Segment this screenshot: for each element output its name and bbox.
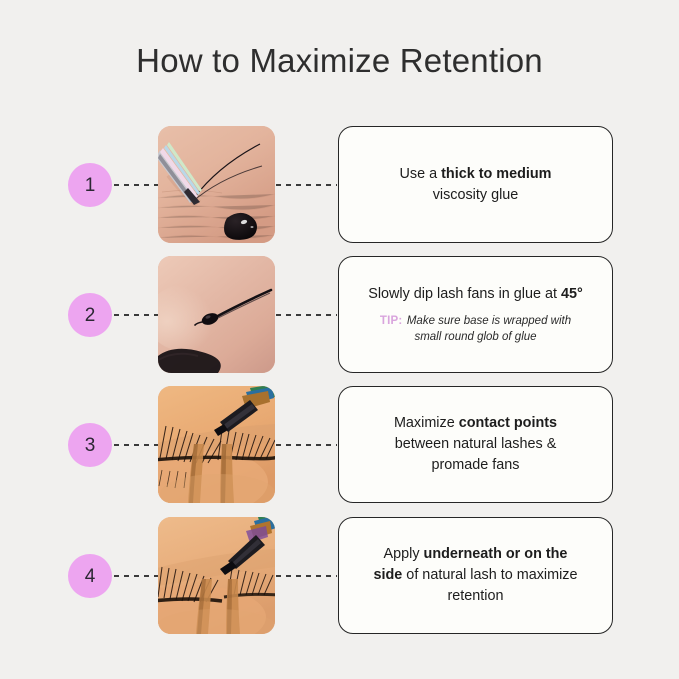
page-title: How to Maximize Retention <box>0 42 679 80</box>
step-photo <box>158 126 275 243</box>
step-photo <box>158 386 275 503</box>
step-text-card: Apply underneath or on the side of natur… <box>338 517 613 634</box>
connector-badge-to-photo <box>114 444 158 446</box>
step-text-card: Use a thick to medium viscosity glue <box>338 126 613 243</box>
connector-photo-to-card <box>276 314 337 316</box>
card-line: Use a thick to medium <box>400 164 552 185</box>
connector-photo-to-card <box>276 575 337 577</box>
infographic-root: How to Maximize Retention 1 <box>0 0 679 679</box>
card-line: between natural lashes & <box>395 434 557 455</box>
step-row: 4 <box>0 517 679 635</box>
step-number-badge: 3 <box>68 423 112 467</box>
card-line: retention <box>447 586 503 607</box>
connector-photo-to-card <box>276 184 337 186</box>
tip-block: TIP: Make sure base is wrapped with smal… <box>380 312 571 345</box>
card-line: promade fans <box>432 455 520 476</box>
tip-text-line: small round glob of glue <box>380 329 571 345</box>
step-number-label: 2 <box>85 306 96 325</box>
card-line: Maximize contact points <box>394 413 557 434</box>
step-number-badge: 4 <box>68 554 112 598</box>
card-line: Apply underneath or on the <box>384 544 568 565</box>
card-line: viscosity glue <box>433 185 519 206</box>
card-line: Slowly dip lash fans in glue at 45° <box>368 284 583 305</box>
step-row: 1 <box>0 126 679 244</box>
connector-badge-to-photo <box>114 314 158 316</box>
step-number-badge: 2 <box>68 293 112 337</box>
tip-text-line: Make sure base is wrapped with <box>407 315 571 327</box>
step-row: 2 <box>0 256 679 374</box>
step-number-label: 3 <box>85 436 96 455</box>
step-text-card: Slowly dip lash fans in glue at 45° TIP:… <box>338 256 613 373</box>
step-row: 3 <box>0 386 679 504</box>
step-number-label: 1 <box>85 176 96 195</box>
step-text-card: Maximize contact points between natural … <box>338 386 613 503</box>
step-photo <box>158 256 275 373</box>
card-line: side of natural lash to maximize <box>374 565 578 586</box>
step-number-label: 4 <box>85 567 96 586</box>
step-number-badge: 1 <box>68 163 112 207</box>
connector-badge-to-photo <box>114 184 158 186</box>
step-photo <box>158 517 275 634</box>
connector-badge-to-photo <box>114 575 158 577</box>
tip-label: TIP: <box>380 315 403 327</box>
connector-photo-to-card <box>276 444 337 446</box>
